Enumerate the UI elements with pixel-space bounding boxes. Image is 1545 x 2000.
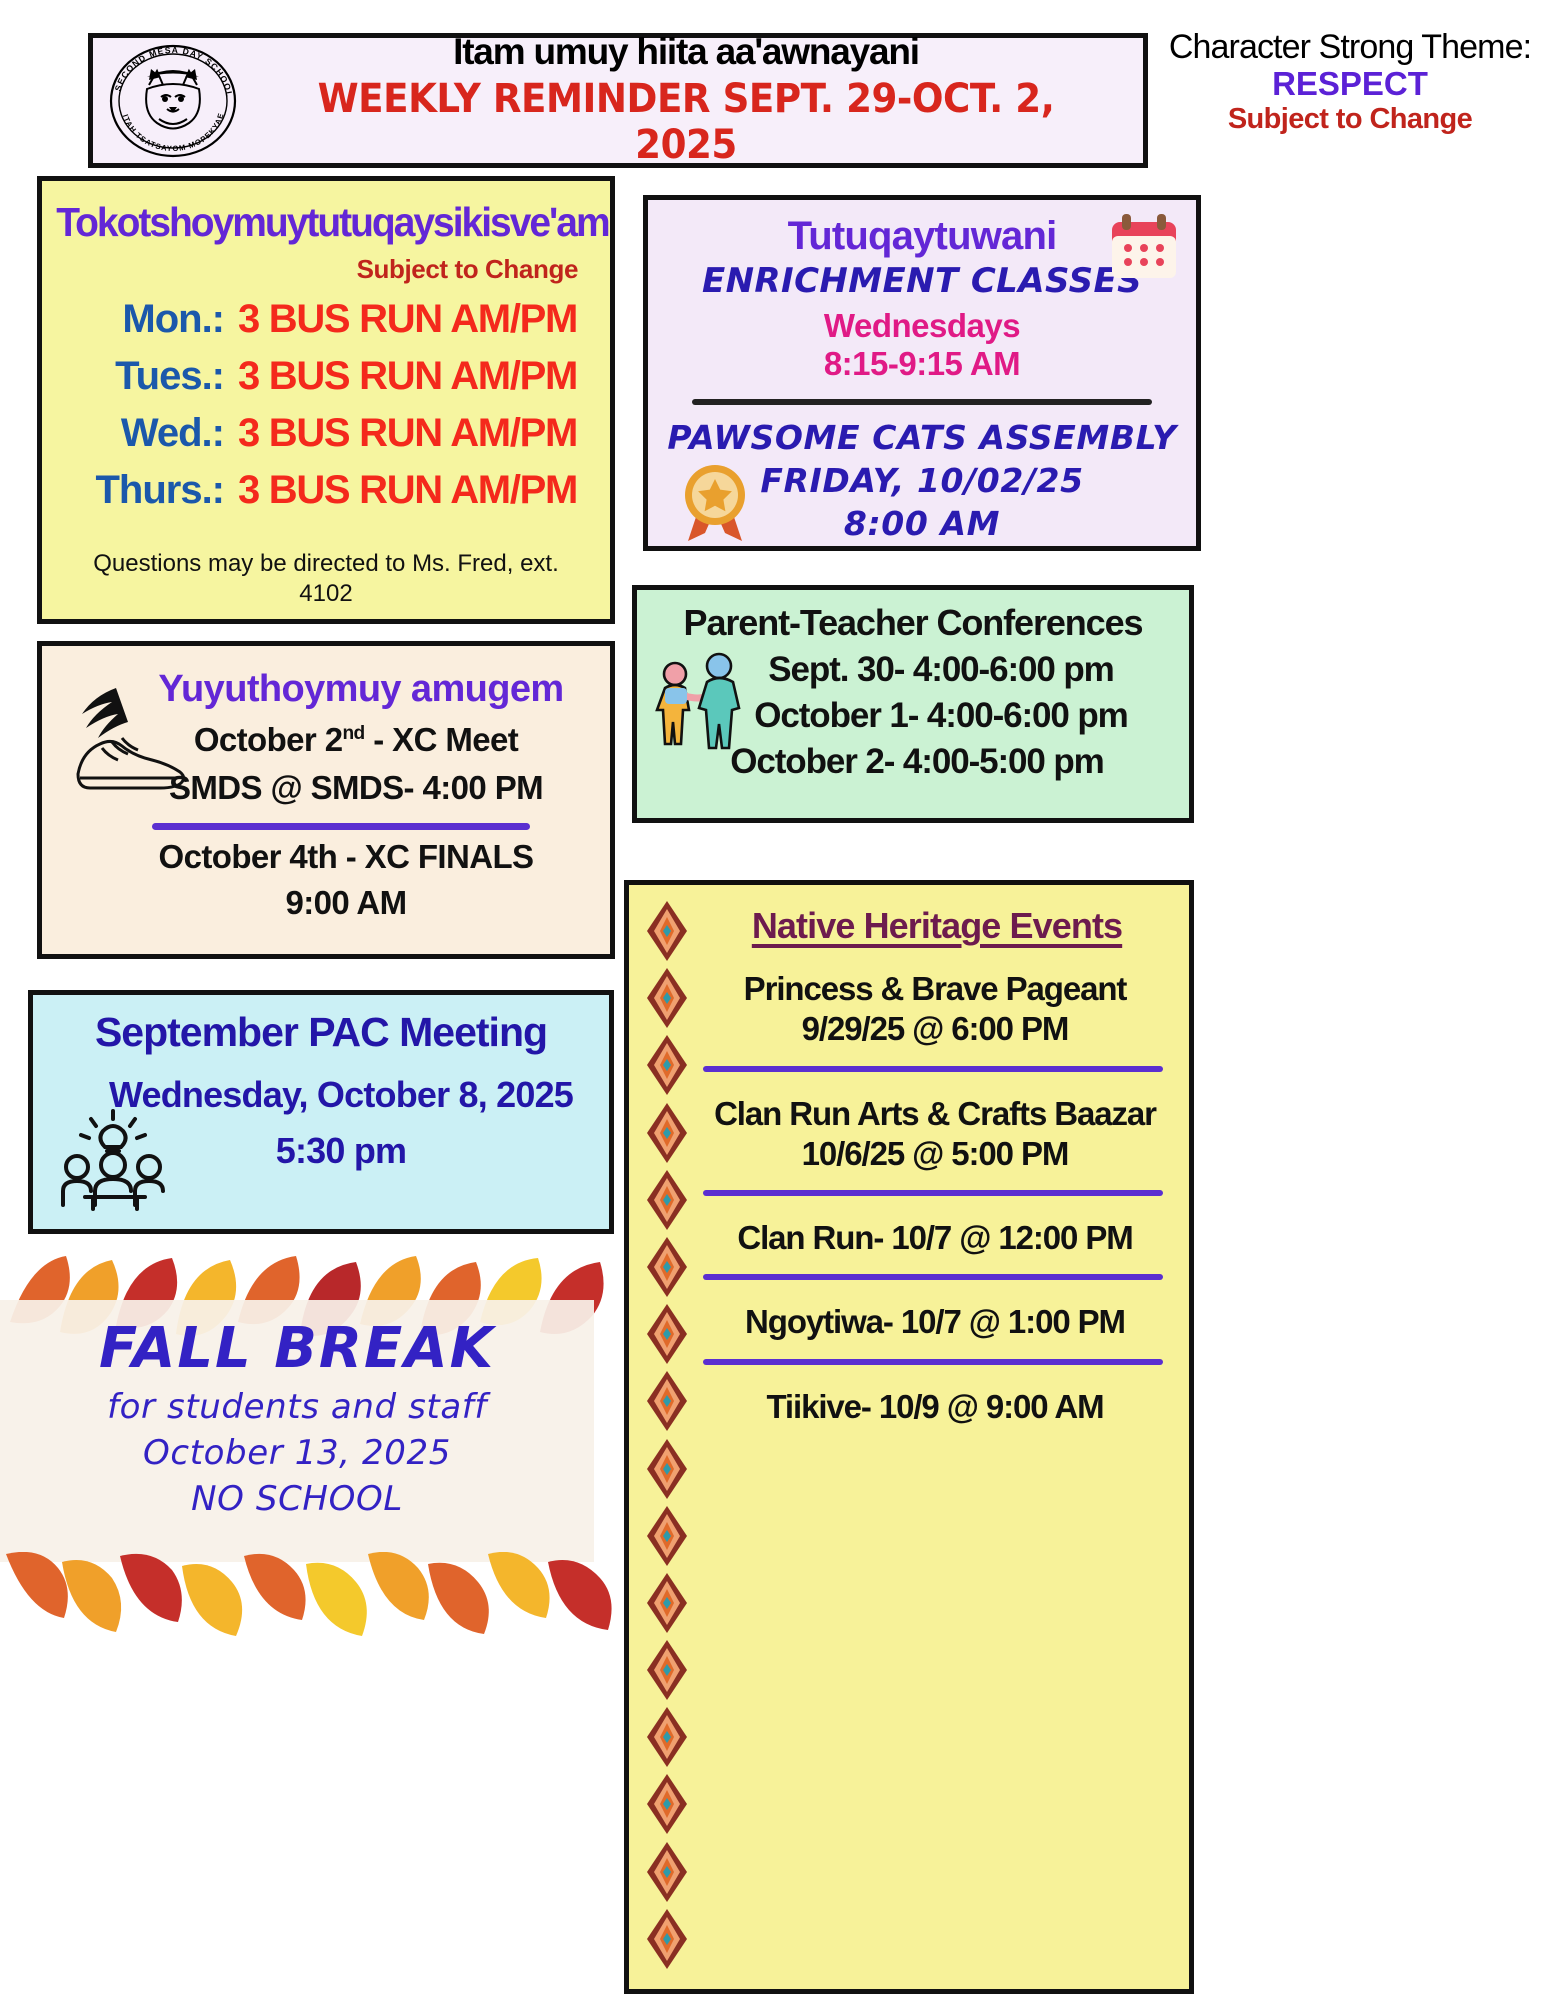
header-hopi-title: Itam umuy hiita aa'awnayani (247, 33, 1125, 72)
bus-row: Mon.: 3 BUS RUN AM/PM (42, 297, 610, 342)
winged-running-shoe-icon (56, 678, 206, 808)
bus-row: Tues.: 3 BUS RUN AM/PM (42, 354, 610, 399)
diamond-motif (647, 1707, 687, 1767)
xc-meet-date-a: October 2 (194, 721, 343, 758)
native-heritage-event: Clan Run- 10/7 @ 12:00 PM (629, 1218, 1189, 1258)
diamond-motif (647, 1170, 687, 1230)
assembly-name: PAWSOME CATS ASSEMBLY (648, 417, 1196, 460)
bus-row: Thurs.: 3 BUS RUN AM/PM (42, 468, 610, 513)
theme-value: RESPECT (1160, 66, 1540, 103)
bus-day-label: Wed.: (64, 411, 224, 456)
character-strong-theme: Character Strong Theme: RESPECT Subject … (1160, 28, 1540, 136)
diamond-motif (647, 968, 687, 1028)
autumn-leaves-border-bottom (0, 1552, 612, 1692)
calendar-icon (1106, 210, 1182, 286)
diamond-motif (647, 1909, 687, 1969)
assembly-block: PAWSOME CATS ASSEMBLY FRIDAY, 10/02/25 8… (648, 417, 1196, 546)
diamond-motif (647, 1506, 687, 1566)
event-datetime: 10/6/25 @ 5:00 PM (691, 1134, 1179, 1174)
event-name: Clan Run- 10/7 @ 12:00 PM (691, 1218, 1179, 1258)
enrichment-classes-box: Tutuqaytuwani ENRICHMENT CLASSES Wednesd… (643, 195, 1201, 551)
event-name: Princess & Brave Pageant (691, 969, 1179, 1009)
event-name: Clan Run Arts & Crafts Baazar (691, 1094, 1179, 1134)
bus-subject-to-change: Subject to Change (42, 254, 610, 285)
ptc-title: Parent-Teacher Conferences (637, 602, 1189, 644)
award-ribbon-icon (672, 457, 758, 543)
bus-box-title: Tokotshoymuytutuqaysikisve'am (56, 199, 596, 246)
fall-break-block: FALL BREAK for students and staff Octobe… (0, 1222, 612, 2000)
diamond-motif (647, 1573, 687, 1633)
native-heritage-events-box: Native Heritage Events Princess & Brave … (624, 880, 1194, 1994)
pac-meeting-box: September PAC Meeting Wednesday, (28, 990, 614, 1234)
native-heritage-event: Clan Run Arts & Crafts Baazar 10/6/25 @ … (629, 1094, 1189, 1175)
bus-day-label: Mon.: (64, 297, 224, 342)
diamond-motif (647, 1842, 687, 1902)
enrichment-time: 8:15-9:15 AM (648, 345, 1196, 383)
diamond-motif (647, 1237, 687, 1297)
cross-country-box: Yuyuthoymuy amugem October 2nd - XC Meet… (37, 641, 615, 959)
divider (152, 823, 530, 830)
flyer-page: SECOND MESA DAY SCHOOL ITAH TSATSAYOM MO… (0, 0, 1545, 2000)
pac-title: September PAC Meeting (33, 1009, 609, 1056)
xc-meet-date-b: - XC Meet (365, 721, 519, 758)
fall-break-no-school: NO SCHOOL (0, 1479, 594, 1519)
bus-day-value: 3 BUS RUN AM/PM (238, 354, 588, 399)
event-name: Ngoytiwa- 10/7 @ 1:00 PM (691, 1302, 1179, 1342)
divider (703, 1274, 1163, 1280)
bus-day-value: 3 BUS RUN AM/PM (238, 297, 588, 342)
bus-contact-note: Questions may be directed to Ms. Fred, e… (42, 549, 610, 609)
parent-teacher-conferences-box: Parent-Teacher Conferences Sept. 30- 4:0… (632, 585, 1194, 823)
bus-day-label: Tues.: (64, 354, 224, 399)
diamond-motif (647, 1439, 687, 1499)
event-name: Tiikive- 10/9 @ 9:00 AM (691, 1387, 1179, 1427)
fall-break-date: October 13, 2025 (0, 1433, 594, 1473)
bus-row: Wed.: 3 BUS RUN AM/PM (42, 411, 610, 456)
fall-break-title: FALL BREAK (0, 1316, 594, 1381)
diamond-motif (647, 1304, 687, 1364)
divider (703, 1190, 1163, 1196)
diamond-motif (647, 1035, 687, 1095)
divider (703, 1359, 1163, 1365)
diamond-motif (647, 1774, 687, 1834)
bus-schedule-box: Tokotshoymuytutuqaysikisve'am Subject to… (37, 176, 615, 624)
meeting-idea-icon (55, 1105, 175, 1215)
header-text-block: Itam umuy hiita aa'awnayani WEEKLY REMIN… (247, 33, 1143, 168)
native-heritage-event: Princess & Brave Pageant 9/29/25 @ 6:00 … (629, 969, 1189, 1050)
parent-child-handshake-icon (651, 652, 747, 752)
theme-label: Character Strong Theme: (1160, 28, 1540, 66)
southwest-diamond-border (639, 895, 695, 1975)
school-seal-logo: SECOND MESA DAY SCHOOL ITAH TSATSAYOM MO… (99, 41, 247, 161)
native-heritage-title: Native Heritage Events (629, 905, 1189, 947)
enrichment-day: Wednesdays (648, 307, 1196, 345)
native-heritage-event: Tiikive- 10/9 @ 9:00 AM (629, 1387, 1189, 1427)
header-weekly-reminder: WEEKLY REMINDER SEPT. 29-OCT. 2, 2025 (278, 76, 1095, 168)
diamond-motif (647, 1103, 687, 1163)
bus-day-value: 3 BUS RUN AM/PM (238, 468, 588, 513)
xc-meet-ordinal: nd (342, 723, 364, 744)
fall-break-panel: FALL BREAK for students and staff Octobe… (0, 1300, 594, 1562)
header-banner: SECOND MESA DAY SCHOOL ITAH TSATSAYOM MO… (88, 33, 1148, 168)
divider (692, 399, 1152, 405)
xc-finals-line: October 4th - XC FINALS (42, 838, 610, 876)
diamond-motif (647, 1371, 687, 1431)
fall-break-audience: for students and staff (0, 1387, 594, 1427)
xc-finals-time: 9:00 AM (42, 884, 610, 922)
theme-subject-to-change: Subject to Change (1160, 103, 1540, 135)
diamond-motif (647, 1640, 687, 1700)
event-datetime: 9/29/25 @ 6:00 PM (691, 1009, 1179, 1049)
diamond-motif (647, 901, 687, 961)
divider (703, 1066, 1163, 1072)
bus-day-value: 3 BUS RUN AM/PM (238, 411, 588, 456)
native-heritage-event: Ngoytiwa- 10/7 @ 1:00 PM (629, 1302, 1189, 1342)
bus-day-label: Thurs.: (64, 468, 224, 513)
